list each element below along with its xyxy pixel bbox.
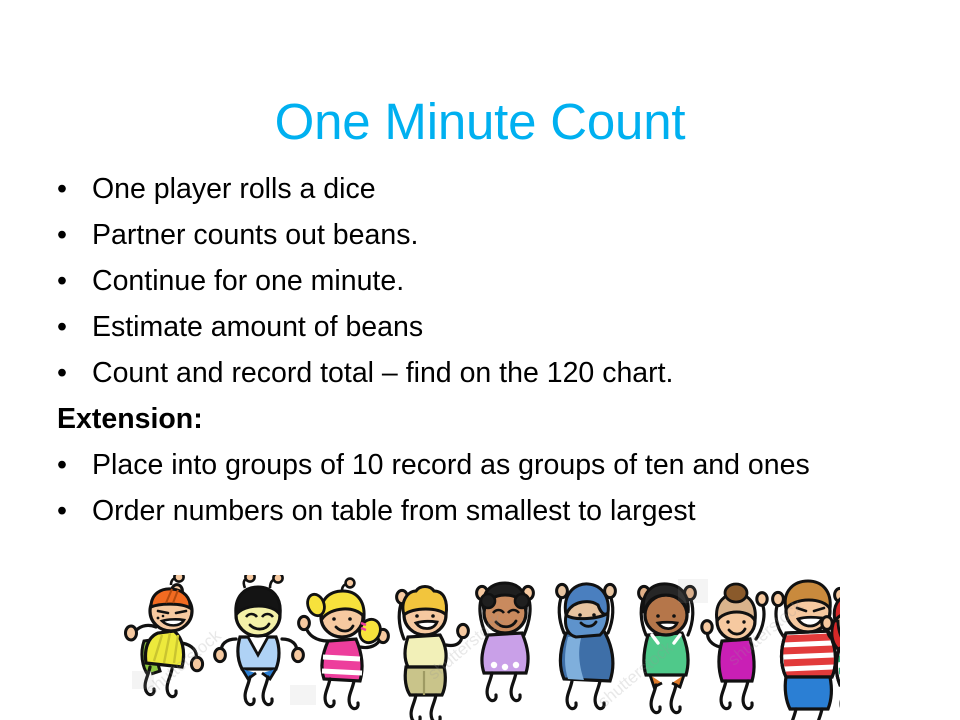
list-item-text: One player rolls a dice	[92, 166, 852, 212]
child-8	[702, 584, 767, 709]
list-item: • Count and record total – find on the 1…	[57, 350, 907, 396]
bullet-icon: •	[57, 304, 92, 350]
slide-canvas: One Minute Count • One player rolls a di…	[0, 0, 960, 720]
list-item-text: Count and record total – find on the 120…	[92, 350, 852, 396]
bullet-icon: •	[57, 442, 92, 488]
bullet-icon: •	[57, 258, 92, 304]
bullet-icon: •	[57, 212, 92, 258]
slide-body-content: • One player rolls a dice • Partner coun…	[57, 166, 907, 534]
bullet-icon: •	[57, 488, 92, 534]
extension-heading: Extension:	[57, 396, 907, 442]
list-item: • One player rolls a dice	[57, 166, 907, 212]
child-9	[773, 581, 840, 720]
child-4	[397, 587, 469, 720]
bullet-icon: •	[57, 350, 92, 396]
list-item: • Order numbers on table from smallest t…	[57, 488, 907, 534]
list-item: • Estimate amount of beans	[57, 304, 907, 350]
child-1	[126, 575, 203, 697]
list-item-text: Place into groups of 10 record as groups…	[92, 442, 852, 488]
list-item-text: Estimate amount of beans	[92, 304, 852, 350]
list-item: • Continue for one minute.	[57, 258, 907, 304]
page-title: One Minute Count	[0, 91, 960, 153]
list-item-text: Order numbers on table from smallest to …	[92, 488, 852, 534]
list-item-text: Continue for one minute.	[92, 258, 852, 304]
bullet-icon: •	[57, 166, 92, 212]
child-6	[557, 584, 616, 709]
jumping-children-illustration: shutterstock shutterstock shutterstock s…	[120, 575, 840, 720]
list-item-text: Partner counts out beans.	[92, 212, 852, 258]
child-7	[639, 584, 696, 713]
child-5	[477, 583, 534, 701]
list-item: • Place into groups of 10 record as grou…	[57, 442, 907, 488]
list-item: • Partner counts out beans.	[57, 212, 907, 258]
child-2	[215, 575, 304, 705]
child-3	[299, 579, 389, 709]
